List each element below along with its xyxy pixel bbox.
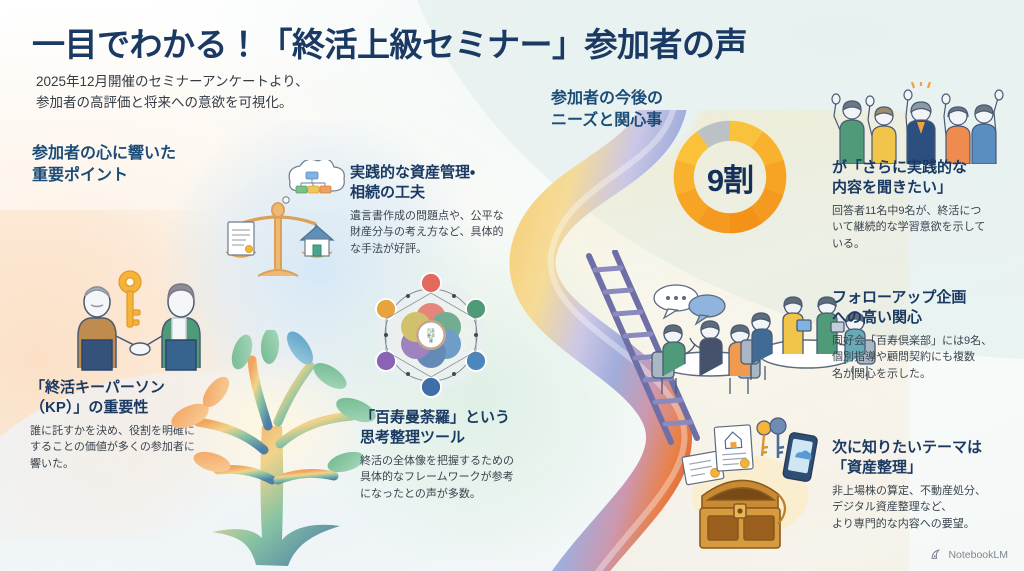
donut-body: 回答者11名中9名が、終活につ いて継続的な学習意欲を示して いる。 <box>832 203 1017 253</box>
svg-text:羅: 羅 <box>429 338 433 343</box>
next-theme-heading: 次に知りたいテーマは 「資産整理」 <box>832 438 1017 479</box>
balance-scale-will-and-house-illustration <box>212 160 352 280</box>
followup-body: 同好会「百寿倶楽部」には9名、 個別指導や顧問契約にも複数 名が関心を示した。 <box>832 333 1017 383</box>
notebooklm-watermark: NotebookLM <box>930 548 1008 561</box>
infographic-canvas: 一目でわかる！「終活上級セミナー」参加者の声 2025年12月開催のセミナーアン… <box>0 0 1024 571</box>
next-theme-body: 非上場株の算定、不動産処分、 デジタル資産整理など、 より専門的な内容への要望。 <box>832 483 1017 533</box>
mandala-body: 終活の全体像を把握するための 具体的なフレームワークが参考 になったとの声が多数… <box>360 453 540 503</box>
section-donut-text: が「さらに実践的な 内容を聞きたい」 回答者11名中9名が、終活につ いて継続的… <box>832 158 1017 252</box>
notebooklm-logo-icon <box>930 548 943 561</box>
section-asset: 実践的な資産管理・ 相続の工夫 遺言書作成の問題点や、公平な 財産分与の考え方な… <box>350 163 525 257</box>
donut-center-label: 9割 <box>665 112 795 242</box>
mandala-heading: 「百寿曼荼羅」という 思考整理ツール <box>360 408 540 449</box>
page-title: 一目でわかる！「終活上級セミナー」参加者の声 <box>32 18 747 66</box>
section-next-theme: 次に知りたいテーマは 「資産整理」 非上場株の算定、不動産処分、 デジタル資産整… <box>832 438 1017 532</box>
page-subtitle: 2025年12月開催のセミナーアンケートより、 参加者の高評価と将来への意欲を可… <box>36 72 309 114</box>
followup-heading: フォローアップ企画 への高い関心 <box>832 288 1017 329</box>
treasure-chest-with-documents-keys-phone-illustration <box>672 412 842 557</box>
section-followup: フォローアップ企画 への高い関心 同好会「百寿倶楽部」には9名、 個別指導や顧問… <box>832 288 1017 382</box>
watermark-label: NotebookLM <box>948 549 1008 561</box>
asset-body: 遺言書作成の問題点や、公平な 財産分与の考え方など、具体的 な手法が好評。 <box>350 208 525 258</box>
cheering-people-raising-hands-illustration <box>822 82 1018 164</box>
donut-chart: 9割 <box>665 112 795 242</box>
section-mandala: 「百寿曼荼羅」という 思考整理ツール 終活の全体像を把握するための 具体的なフレ… <box>360 408 540 502</box>
donut-heading: が「さらに実践的な 内容を聞きたい」 <box>832 158 1017 199</box>
asset-heading: 実践的な資産管理・ 相続の工夫 <box>350 163 525 204</box>
